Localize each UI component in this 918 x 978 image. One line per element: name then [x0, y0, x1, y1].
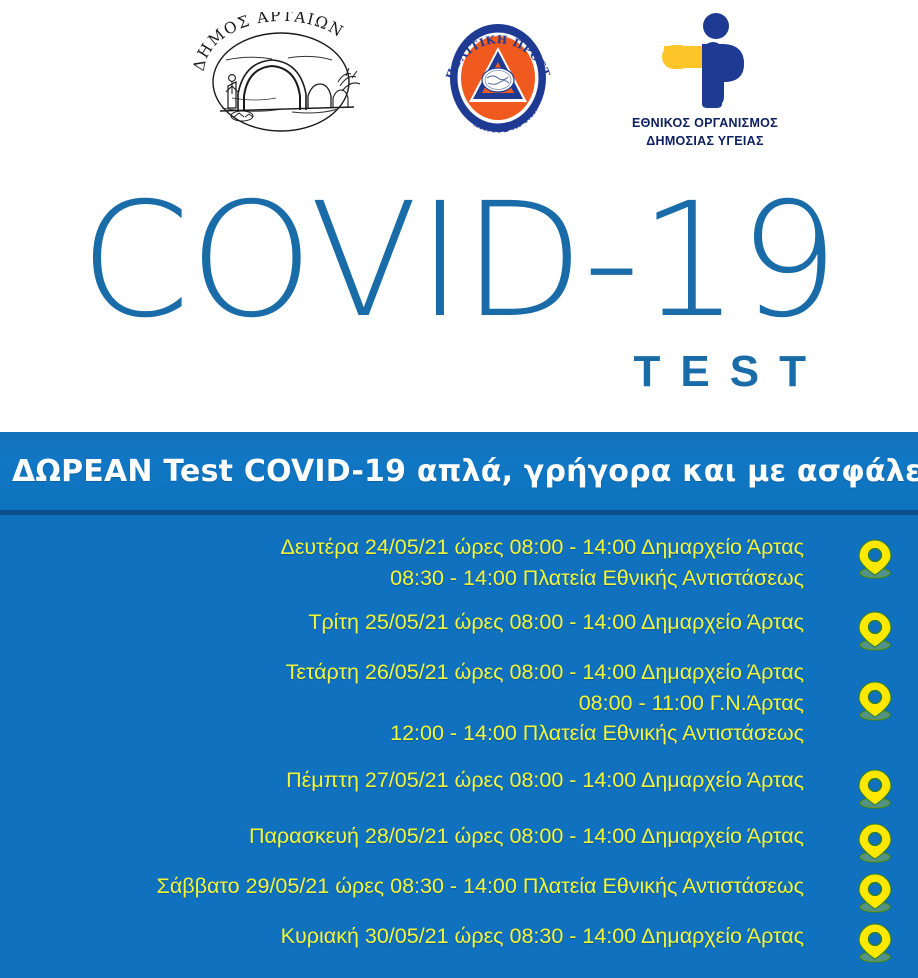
location-pin-icon [856, 921, 894, 963]
schedule-day-friday: Παρασκευή 28/05/21 ώρες 08:00 - 14:00 Δη… [0, 821, 918, 852]
schedule-day-lines: Τρίτη 25/05/21 ώρες 08:00 - 14:00 Δημαρχ… [0, 607, 832, 638]
schedule-day-wednesday: Τετάρτη 26/05/21 ώρες 08:00 - 14:00 Δημα… [0, 657, 918, 749]
location-pin-icon [856, 609, 894, 651]
arta-municipality-seal: ΔΗΜΟΣ ΑΡΤΑΙΩΝ [188, 12, 374, 144]
schedule-day-lines: Δευτέρα 24/05/21 ώρες 08:00 - 14:00 Δημα… [0, 532, 832, 593]
schedule-day-lines: Παρασκευή 28/05/21 ώρες 08:00 - 14:00 Δη… [0, 821, 832, 852]
schedule-section: Δευτέρα 24/05/21 ώρες 08:00 - 14:00 Δημα… [0, 515, 918, 978]
headline-banner: ΔΩΡΕΑΝ Test COVID-19 απλά, γρήγορα και μ… [0, 432, 918, 510]
eody-logo: ΕΘΝΙΚΟΣ ΟΡΓΑΝΙΣΜΟΣ ΔΗΜΟΣΙΑΣ ΥΓΕΙΑΣ [612, 12, 798, 152]
schedule-line: Κυριακή 30/05/21 ώρες 08:30 - 14:00 Δημα… [0, 921, 804, 952]
schedule-day-lines: Κυριακή 30/05/21 ώρες 08:30 - 14:00 Δημα… [0, 921, 832, 952]
schedule-day-lines: Τετάρτη 26/05/21 ώρες 08:00 - 14:00 Δημα… [0, 657, 832, 749]
logo-strip: ΔΗΜΟΣ ΑΡΤΑΙΩΝ [0, 0, 918, 172]
schedule-line: Δευτέρα 24/05/21 ώρες 08:00 - 14:00 Δημα… [0, 532, 804, 563]
location-pin-icon [856, 537, 894, 579]
eody-label-line1: ΕΘΝΙΚΟΣ ΟΡΓΑΝΙΣΜΟΣ [612, 114, 798, 132]
schedule-day-sunday: Κυριακή 30/05/21 ώρες 08:30 - 14:00 Δημα… [0, 921, 918, 952]
location-pin-icon [856, 679, 894, 721]
civil-protection-emblem: ΠΟΛΙΤΙΚΗ ΠΡΟΣΤΑΣΙΑ - ΔΗΜΟΣ ΑΡΤΑΙΩΝ - [434, 14, 562, 142]
eody-symbol [612, 12, 798, 112]
title-subword-test: TEST [634, 350, 826, 394]
title-zone: COVID-19 TEST [0, 172, 918, 432]
schedule-line: Τρίτη 25/05/21 ώρες 08:00 - 14:00 Δημαρχ… [0, 607, 804, 638]
schedule-line: Τετάρτη 26/05/21 ώρες 08:00 - 14:00 Δημα… [0, 657, 804, 688]
location-pin-icon [856, 767, 894, 809]
location-pin-icon [856, 871, 894, 913]
schedule-day-thursday: Πέμπτη 27/05/21 ώρες 08:00 - 14:00 Δημαρ… [0, 765, 918, 796]
schedule-line: 08:30 - 14:00 Πλατεία Εθνικής Αντιστάσεω… [0, 563, 804, 594]
location-pin-icon [856, 821, 894, 863]
schedule-day-monday: Δευτέρα 24/05/21 ώρες 08:00 - 14:00 Δημα… [0, 532, 918, 593]
schedule-line: 08:00 - 11:00 Γ.Ν.Άρτας [0, 688, 804, 719]
schedule-line: Σάββατο 29/05/21 ώρες 08:30 - 14:00 Πλατ… [0, 871, 804, 902]
page-title: COVID-19 [0, 182, 918, 340]
schedule-day-lines: Πέμπτη 27/05/21 ώρες 08:00 - 14:00 Δημαρ… [0, 765, 832, 796]
headline-text: ΔΩΡΕΑΝ Test COVID-19 απλά, γρήγορα και μ… [12, 454, 918, 489]
schedule-line: Παρασκευή 28/05/21 ώρες 08:00 - 14:00 Δη… [0, 821, 804, 852]
schedule-day-saturday: Σάββατο 29/05/21 ώρες 08:30 - 14:00 Πλατ… [0, 871, 918, 902]
schedule-line: Πέμπτη 27/05/21 ώρες 08:00 - 14:00 Δημαρ… [0, 765, 804, 796]
schedule-day-tuesday: Τρίτη 25/05/21 ώρες 08:00 - 14:00 Δημαρχ… [0, 607, 918, 638]
schedule-day-lines: Σάββατο 29/05/21 ώρες 08:30 - 14:00 Πλατ… [0, 871, 832, 902]
poster-root: ΔΗΜΟΣ ΑΡΤΑΙΩΝ [0, 0, 918, 978]
eody-label: ΕΘΝΙΚΟΣ ΟΡΓΑΝΙΣΜΟΣ ΔΗΜΟΣΙΑΣ ΥΓΕΙΑΣ [612, 114, 798, 150]
eody-label-line2: ΔΗΜΟΣΙΑΣ ΥΓΕΙΑΣ [612, 132, 798, 150]
schedule-line: 12:00 - 14:00 Πλατεία Εθνικής Αντιστάσεω… [0, 718, 804, 749]
